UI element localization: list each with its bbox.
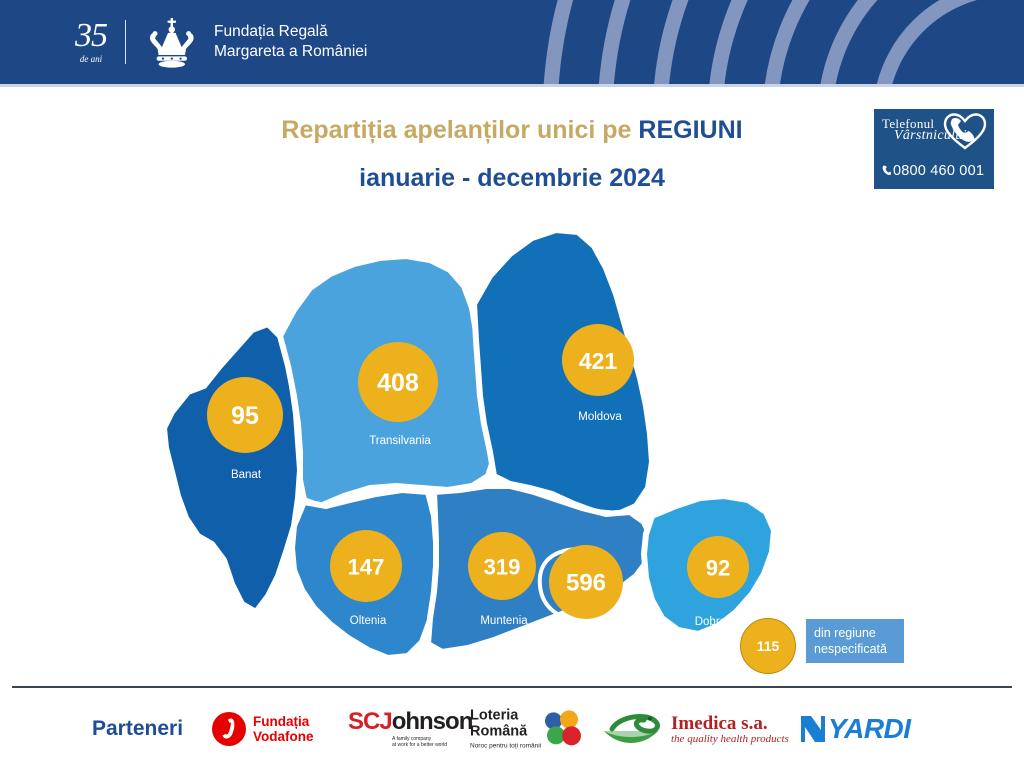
crown-icon [142, 16, 202, 68]
partners-footer: Parteneri Fundația Vodafone SCJohnson A … [0, 690, 1024, 768]
title-plain-part: Repartiția apelanților unici pe [281, 116, 638, 144]
bubble-moldova[interactable]: 421 [562, 324, 634, 396]
scjohnson-tagline: A family company at work for a better wo… [392, 736, 472, 749]
loteria-tagline: Noroc pentru toți românii [470, 743, 541, 750]
scjohnson-ohnson: ohnson [392, 708, 473, 735]
unspecified-region-label: din regiune nespecificată [806, 619, 904, 663]
bubble-value-oltenia: 147 [348, 555, 385, 580]
organization-name: Fundația Regală Margareta a României [214, 22, 367, 62]
title-accent-part: REGIUNI [638, 116, 742, 144]
imedica-snake-bowl-icon [600, 709, 666, 749]
partners-label: Parteneri [92, 717, 183, 741]
bubble-value-dobrogea: 92 [706, 556, 730, 581]
partner-logo-loteria-romana[interactable]: Loteria Română Noroc pentru toți românii [470, 708, 587, 749]
region-label-transilvania: Transilvania [369, 435, 431, 447]
page-title: Repartiția apelanților unici pe REGIUNI … [0, 112, 1024, 197]
region-label-moldova: Moldova [578, 411, 622, 423]
logo-phone-number: 0800 460 001 [882, 163, 986, 179]
partner-logo-scjohnson[interactable]: SCJohnson A family company at work for a… [348, 710, 472, 749]
org-line-1: Fundația Regală [214, 22, 367, 42]
scjohnson-sc: SC [348, 708, 379, 735]
bubble-value-transilvania: 408 [377, 369, 419, 397]
map-region-banat[interactable] [164, 324, 300, 612]
imedica-tagline: the quality health products [671, 734, 789, 745]
imedica-wordmark: Imedica s.a. the quality health products [671, 714, 789, 745]
bubble-unspecified-region[interactable]: 115 [740, 618, 796, 674]
bubble-value-unspecified: 115 [757, 638, 780, 654]
yardi-wordmark: YARDI [828, 713, 911, 745]
map-svg: Banat Transilvania Moldova Oltenia Munte… [128, 200, 828, 670]
title-line-1: Repartiția apelanților unici pe REGIUNI [0, 112, 1024, 150]
vodafone-line-2: Vodafone [253, 729, 314, 744]
title-line-2: ianuarie - decembrie 2024 [0, 160, 1024, 198]
scjohnson-j: J [379, 708, 391, 735]
unspecified-label-line-1: din regiune [814, 625, 896, 642]
bubble-value-moldova: 421 [579, 348, 618, 374]
logo-wordmark: Telefonul Vârstnicului [882, 117, 986, 143]
romania-region-map: Banat Transilvania Moldova Oltenia Munte… [0, 200, 1024, 680]
anniversary-sub: de ani [80, 54, 102, 64]
region-label-dobrogea: Dobrogea [695, 616, 746, 628]
bubble-value-muntenia: 319 [484, 555, 521, 580]
telefonul-varstnicului-logo: Telefonul Vârstnicului 0800 460 001 [874, 109, 994, 189]
phone-number-text: 0800 460 001 [893, 163, 984, 179]
vodafone-line-1: Fundația [253, 714, 314, 729]
unspecified-label-line-2: nespecificată [814, 641, 896, 658]
bubble-transilvania[interactable]: 408 [358, 342, 438, 422]
region-label-muntenia: Muntenia [480, 615, 528, 627]
page-header: 35 de ani [0, 0, 1024, 84]
loteria-line-2: Română [470, 724, 541, 740]
vodafone-quote-icon [212, 712, 246, 746]
bubble-muntenia[interactable]: 319 [468, 532, 536, 600]
bubble-banat[interactable]: 95 [207, 377, 283, 453]
loteria-line-1: Loteria [470, 708, 541, 724]
scjohnson-tagline-2: at work for a better world [392, 742, 472, 748]
header-divider [125, 20, 126, 64]
partner-logo-vodafone[interactable]: Fundația Vodafone [212, 712, 314, 746]
logo-line-2: Vârstnicului [894, 129, 986, 143]
loteria-wordmark: Loteria Română Noroc pentru toți românii [470, 708, 541, 749]
header-underline [0, 84, 1024, 87]
imedica-name: Imedica s.a. [671, 714, 789, 733]
scjohnson-wordmark: SCJohnson [348, 710, 472, 734]
region-label-oltenia: Oltenia [350, 615, 387, 627]
footer-divider [12, 686, 1012, 688]
bubble-value-bucuresti: 596 [566, 570, 606, 597]
partner-logo-imedica[interactable]: Imedica s.a. the quality health products [600, 709, 789, 749]
bubble-oltenia[interactable]: 147 [330, 530, 402, 602]
anniversary-badge: 35 de ani [75, 20, 107, 63]
yardi-chevron-icon [800, 714, 826, 744]
phone-handset-icon [882, 165, 891, 176]
org-line-2: Margareta a României [214, 42, 367, 62]
bubble-dobrogea[interactable]: 92 [687, 536, 749, 598]
bubble-value-banat: 95 [231, 402, 259, 430]
partner-logo-yardi[interactable]: YARDI [800, 713, 911, 745]
vodafone-wordmark: Fundația Vodafone [253, 714, 314, 744]
bubble-bucuresti[interactable]: 596 [549, 545, 623, 619]
loteria-balls-icon [545, 710, 587, 748]
anniversary-number: 35 [75, 20, 107, 52]
region-label-banat: Banat [231, 469, 262, 481]
